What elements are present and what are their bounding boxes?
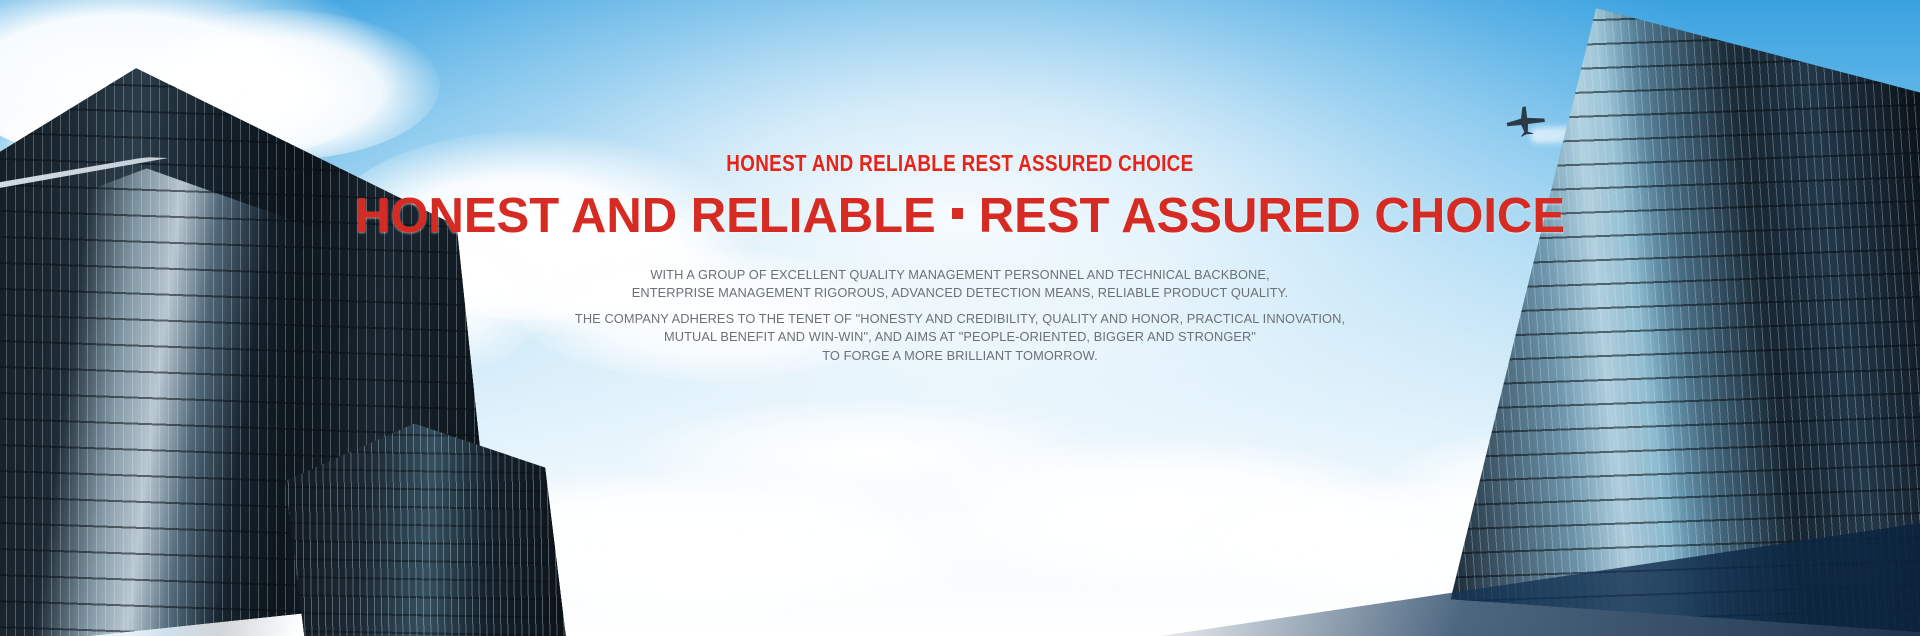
body-line: ENTERPRISE MANAGEMENT RIGOROUS, ADVANCED… xyxy=(575,284,1345,303)
headline-separator-square xyxy=(952,208,963,219)
banner-body-copy: WITH A GROUP OF EXCELLENT QUALITY MANAGE… xyxy=(575,266,1345,366)
body-line: WITH A GROUP OF EXCELLENT QUALITY MANAGE… xyxy=(575,266,1345,285)
body-line: MUTUAL BENEFIT AND WIN-WIN", AND AIMS AT… xyxy=(575,328,1345,347)
body-line: THE COMPANY ADHERES TO THE TENET OF "HON… xyxy=(575,310,1345,329)
body-line: TO FORGE A MORE BRILLIANT TOMORROW. xyxy=(575,347,1345,366)
banner-eyebrow: HONEST AND RELIABLE REST ASSURED CHOICE xyxy=(726,150,1193,178)
body-paragraph-2: THE COMPANY ADHERES TO THE TENET OF "HON… xyxy=(575,310,1345,366)
headline-left: HONEST AND RELIABLE xyxy=(355,188,936,244)
headline-right: REST ASSURED CHOICE xyxy=(979,188,1565,244)
banner-content: HONEST AND RELIABLE REST ASSURED CHOICE … xyxy=(0,0,1920,636)
banner-headline: HONEST AND RELIABLE REST ASSURED CHOICE xyxy=(355,188,1565,244)
hero-banner: HONEST AND RELIABLE REST ASSURED CHOICE … xyxy=(0,0,1920,636)
body-paragraph-1: WITH A GROUP OF EXCELLENT QUALITY MANAGE… xyxy=(575,266,1345,303)
